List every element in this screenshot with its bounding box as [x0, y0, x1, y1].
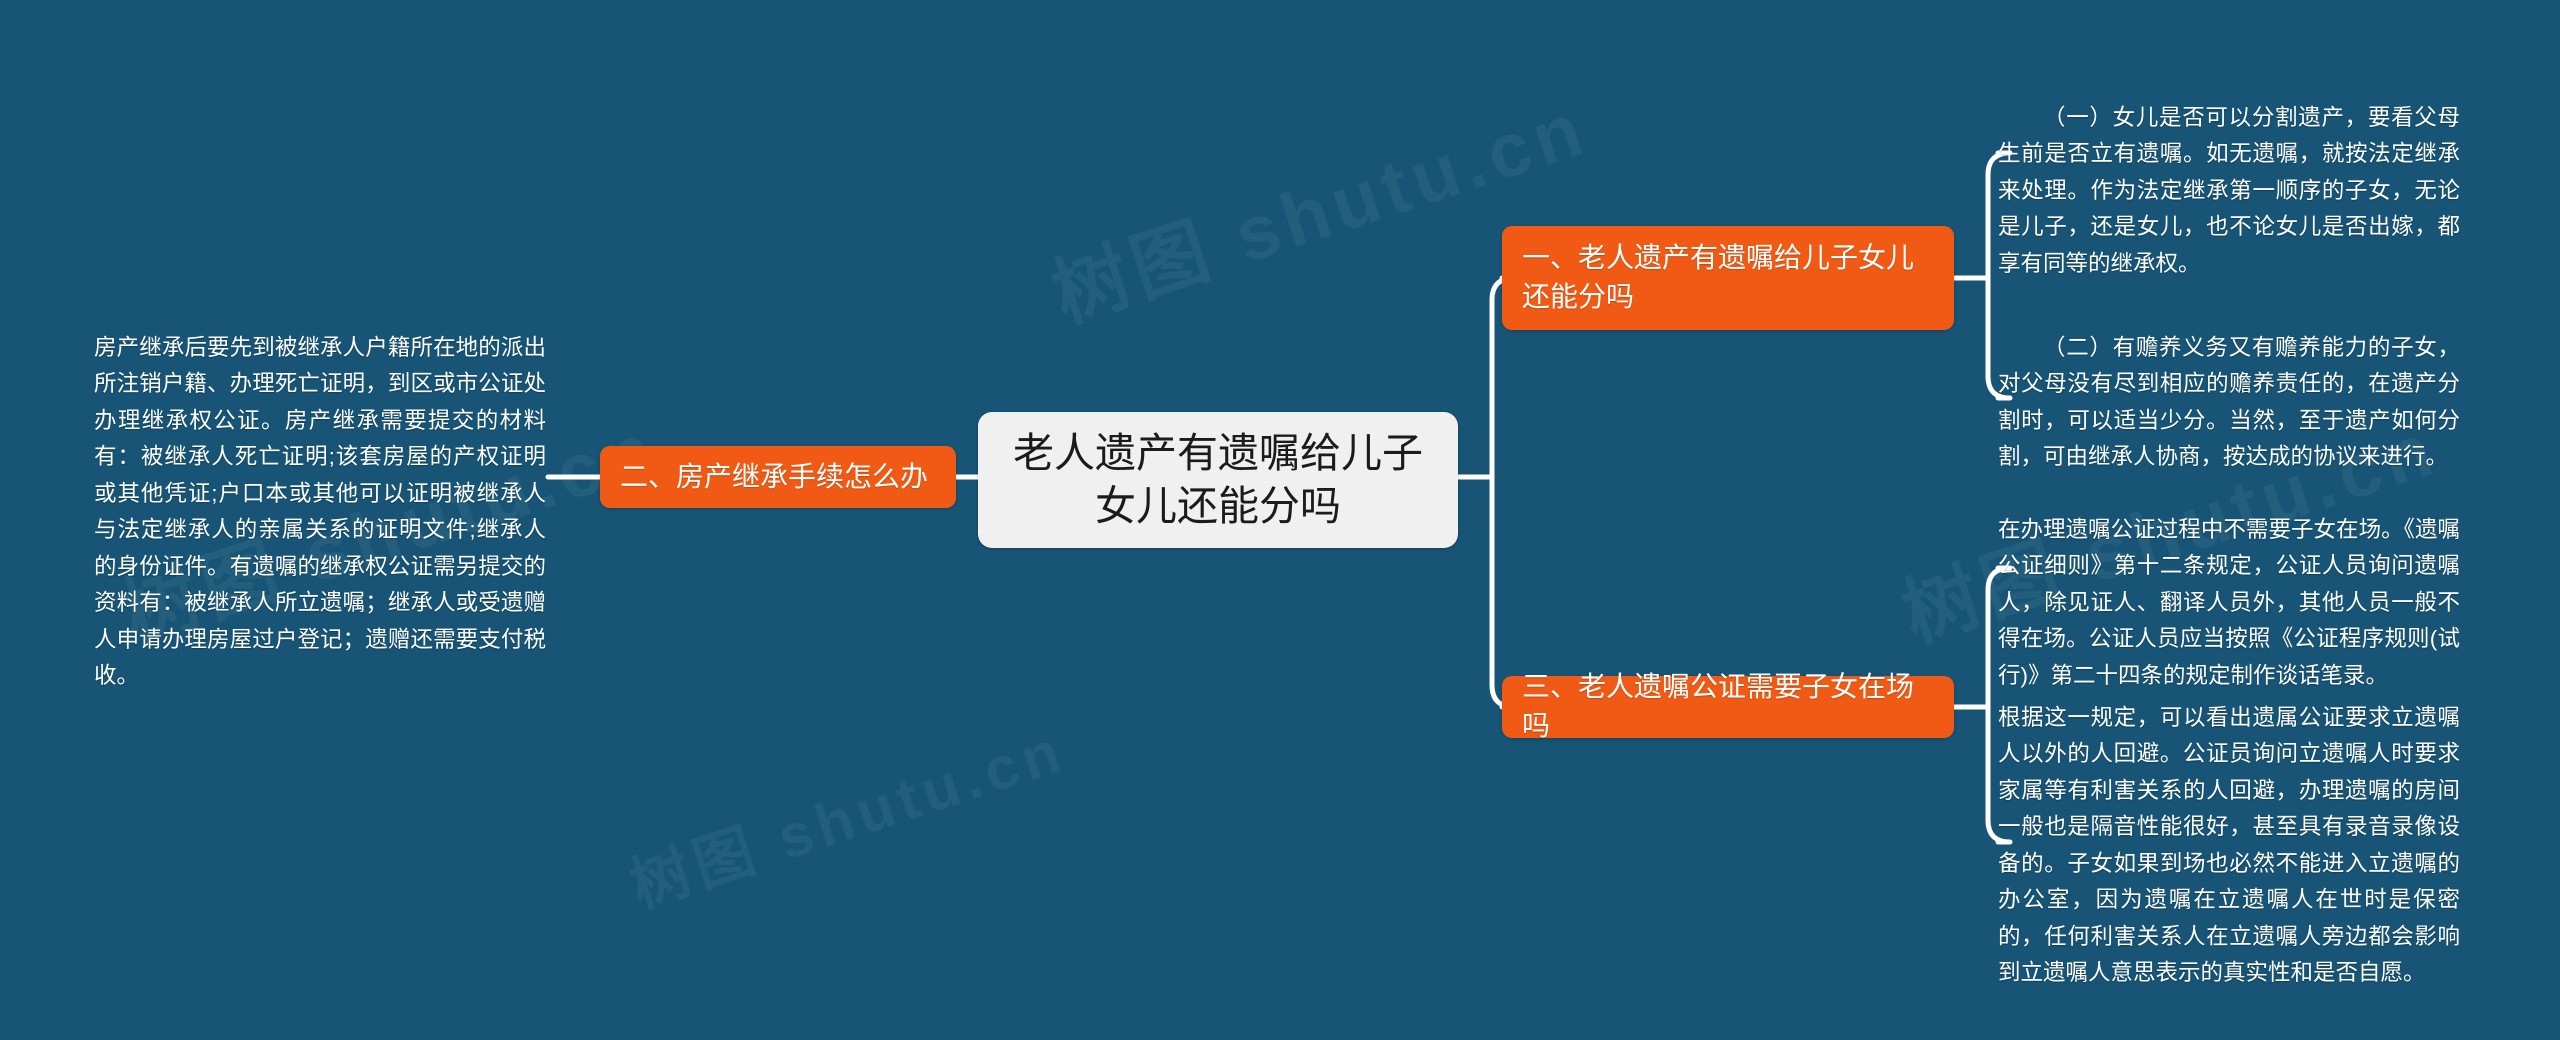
topic-node-2-label: 二、房产继承手续怎么办	[620, 458, 928, 497]
leaf-text-block-right-3a: 在办理遗嘱公证过程中不需要子女在场。《遗嘱公证细则》第十二条规定，公证人员询问遗…	[1998, 512, 2460, 694]
topic-node-3[interactable]: 三、老人遗嘱公证需要子女在场吗	[1502, 676, 1954, 738]
connector-bracket-to-topic-3	[1492, 477, 1514, 707]
leaf-text-block-right-1a: （一）女儿是否可以分割遗产，要看父母生前是否立有遗嘱。如无遗嘱，就按法定继承来处…	[1998, 100, 2460, 282]
leaf-paragraph: 房产继承后要先到被继承人户籍所在地的派出所注销户籍、办理死亡证明，到区或市公证处…	[94, 330, 546, 694]
topic-node-2[interactable]: 二、房产继承手续怎么办	[600, 446, 956, 508]
leaf-text-block-left: 房产继承后要先到被继承人户籍所在地的派出所注销户籍、办理死亡证明，到区或市公证处…	[94, 330, 546, 694]
central-node-title: 老人遗产有遗嘱给儿子女儿还能分吗	[1004, 427, 1432, 534]
leaf-paragraph: 根据这一规定，可以看出遗属公证要求立遗嘱人以外的人回避。公证员询问立遗嘱人时要求…	[1998, 700, 2460, 992]
leaf-paragraph: （二）有赡养义务又有赡养能力的子女，对父母没有尽到相应的赡养责任的，在遗产分割时…	[1998, 330, 2460, 476]
watermark: 树图 shutu.cn	[618, 702, 1075, 925]
leaf-text-block-right-3b: 根据这一规定，可以看出遗属公证要求立遗嘱人以外的人回避。公证员询问立遗嘱人时要求…	[1998, 700, 2460, 992]
leaf-paragraph: （一）女儿是否可以分割遗产，要看父母生前是否立有遗嘱。如无遗嘱，就按法定继承来处…	[1998, 100, 2460, 282]
topic-node-3-label: 三、老人遗嘱公证需要子女在场吗	[1522, 668, 1934, 745]
leaf-text-block-right-1b: （二）有赡养义务又有赡养能力的子女，对父母没有尽到相应的赡养责任的，在遗产分割时…	[1998, 330, 2460, 476]
central-node[interactable]: 老人遗产有遗嘱给儿子女儿还能分吗	[978, 412, 1458, 548]
topic-node-1[interactable]: 一、老人遗产有遗嘱给儿子女儿还能分吗	[1502, 226, 1954, 330]
leaf-paragraph: 在办理遗嘱公证过程中不需要子女在场。《遗嘱公证细则》第十二条规定，公证人员询问遗…	[1998, 512, 2460, 694]
topic-node-1-label: 一、老人遗产有遗嘱给儿子女儿还能分吗	[1522, 239, 1934, 316]
